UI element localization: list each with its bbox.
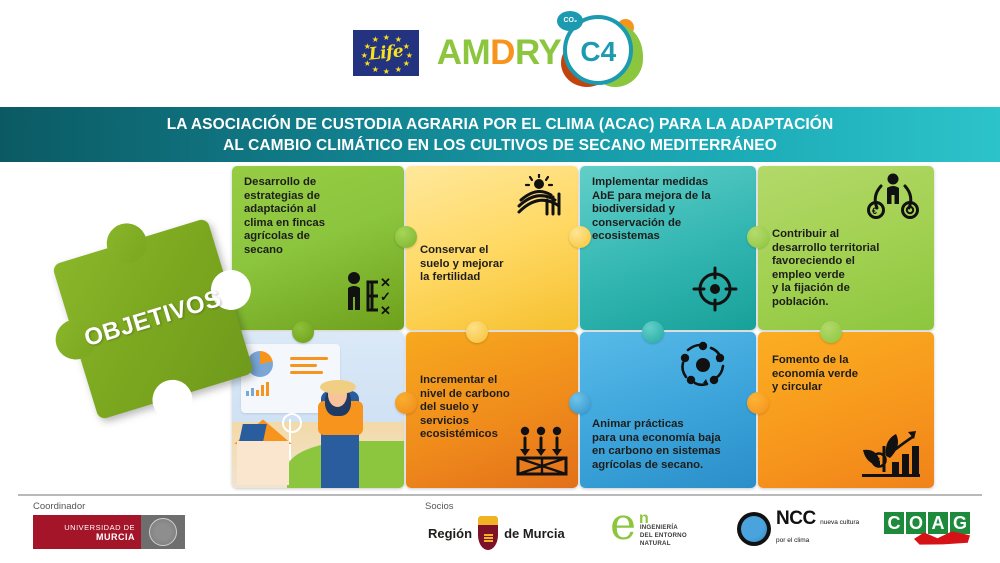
um-line-1: UNIVERSIDAD DE	[64, 523, 135, 532]
en-subtitle: INGENIERÍA DEL ENTORNO NATURAL	[640, 524, 687, 548]
green-growth-chart-icon: €	[860, 426, 920, 480]
ncc-logo[interactable]: NCC nueva cultura por el clima	[737, 510, 859, 547]
puzzle-knob	[466, 321, 488, 343]
life-wordmark: Life	[367, 41, 403, 65]
puzzle-piece-1-text: Desarrollo de estrategias de adaptación …	[244, 176, 362, 258]
svg-text:€: €	[876, 457, 881, 466]
coag-logo[interactable]: C O A G	[884, 512, 972, 550]
puzzle-knob	[569, 226, 591, 248]
coag-letter-0: C	[884, 512, 904, 534]
um-wordmark: UNIVERSIDAD DE MURCIA	[33, 515, 141, 549]
farmer-illustration	[232, 332, 404, 488]
illustration-solar-panel	[239, 424, 267, 441]
murcia-crown-icon	[478, 516, 498, 525]
murcia-shield-icon	[476, 516, 500, 550]
banner-line-1: LA ASOCIACIÓN DE CUSTODIA AGRARIA POR EL…	[167, 114, 834, 135]
puzzle-piece-2[interactable]: Conservar el suelo y mejorar la fertilid…	[406, 166, 578, 330]
puzzle-knob	[747, 392, 769, 414]
puzzle-piece-4-text: Contribuir al desarrollo territorial fav…	[772, 228, 918, 310]
um-seal-icon	[149, 518, 177, 546]
co2-bubble-icon: CO₂	[557, 11, 583, 31]
en-letter-e: e	[610, 508, 636, 542]
puzzle-piece-7-text: Animar prácticas para una economía baja …	[592, 418, 750, 472]
puzzle-knob	[642, 321, 664, 343]
puzzle-piece-1[interactable]: Desarrollo de estrategias de adaptación …	[232, 166, 404, 330]
puzzle-piece-5[interactable]	[232, 332, 404, 488]
coag-letter-1: O	[906, 512, 926, 534]
svg-text:✓: ✓	[380, 289, 391, 304]
amdry-wordmark: AMDRY	[437, 33, 562, 73]
globe-icon	[737, 512, 771, 546]
svg-text:✕: ✕	[380, 275, 391, 290]
socios-label: Socios	[425, 501, 454, 512]
objetivos-puzzle-piece[interactable]: OBJETIVOS	[52, 218, 254, 420]
coordinador-label: Coordinador	[33, 501, 85, 512]
puzzle-piece-3-text: Implementar medidas AbE para mejora de l…	[592, 176, 744, 244]
eu-life-flag-icon: ★ ★ ★ ★ ★ ★ ★ ★ ★ ★ ★ ★ Life	[353, 30, 419, 76]
universidad-de-murcia-logo[interactable]: UNIVERSIDAD DE MURCIA	[33, 515, 185, 549]
sun-over-field-icon	[516, 174, 562, 216]
illustration-house	[237, 441, 289, 485]
illustration-metric-lines	[290, 357, 328, 378]
puzzle-knob	[395, 392, 417, 414]
rm-pre-text: Región	[428, 526, 472, 541]
person-with-coins-icon: €	[866, 172, 920, 220]
region-de-murcia-logo[interactable]: Región de Murcia	[428, 512, 565, 554]
puzzle-piece-8-text: Fomento de la economía verde y circular	[772, 354, 902, 395]
target-crosshair-icon	[692, 266, 738, 312]
puzzle-knob	[292, 321, 314, 343]
footer-divider	[18, 494, 982, 496]
puzzle-piece-6[interactable]: Incrementar el nivel de carbono del suel…	[406, 332, 578, 488]
um-seal-panel	[141, 515, 185, 549]
puzzle-knob	[569, 392, 591, 414]
svg-text:✕: ✕	[380, 303, 391, 318]
title-banner: LA ASOCIACIÓN DE CUSTODIA AGRARIA POR EL…	[0, 107, 1000, 162]
ncc-wordmark: NCC nueva cultura por el clima	[776, 510, 859, 547]
c4-text: C4	[580, 38, 616, 66]
carbon-into-soil-icon	[516, 426, 568, 476]
puzzle-piece-8[interactable]: Fomento de la economía verde y circular …	[758, 332, 934, 488]
puzzle-piece-2-text: Conservar el suelo y mejorar la fertilid…	[420, 244, 550, 285]
puzzle-knob	[747, 226, 769, 248]
circular-flow-icon	[678, 340, 728, 390]
amdry-c4-logo: AMDRY C4 CO₂	[437, 13, 648, 93]
puzzle-piece-3[interactable]: Implementar medidas AbE para mejora de l…	[580, 166, 756, 330]
person-checklist-icon: ✕ ✓ ✕	[342, 268, 394, 320]
objetivos-label: OBJETIVOS	[52, 218, 254, 420]
puzzle-knob	[820, 321, 842, 343]
coag-letter-2: A	[928, 512, 948, 534]
rm-post-text: de Murcia	[504, 526, 565, 541]
ingenieria-del-entorno-natural-logo[interactable]: e n INGENIERÍA DEL ENTORNO NATURAL	[610, 508, 687, 548]
puzzle-piece-4[interactable]: Contribuir al desarrollo territorial fav…	[758, 166, 934, 330]
ncc-acronym: NCC	[776, 508, 816, 529]
murcia-shield-body	[478, 525, 498, 550]
illustration-wind-turbine	[289, 419, 291, 460]
c4-badge-icon: C4 CO₂	[555, 13, 647, 93]
puzzle-piece-7[interactable]: Animar prácticas para una economía baja …	[580, 332, 756, 488]
objectives-puzzle-grid: Desarrollo de estrategias de adaptación …	[232, 166, 934, 488]
um-line-2: MURCIA	[96, 532, 135, 542]
coag-letter-3: G	[950, 512, 970, 534]
coag-letters: C O A G	[884, 512, 972, 534]
illustration-bar-chart	[246, 382, 269, 396]
logo-bar: ★ ★ ★ ★ ★ ★ ★ ★ ★ ★ ★ ★ Life AMDRY C4 CO…	[0, 0, 1000, 105]
puzzle-knob	[395, 226, 417, 248]
svg-text:€: €	[872, 206, 877, 216]
amdry-d: D	[490, 33, 515, 72]
banner-line-2: AL CAMBIO CLIMÁTICO EN LOS CULTIVOS DE S…	[223, 135, 777, 156]
amdry-am: AM	[437, 33, 490, 72]
